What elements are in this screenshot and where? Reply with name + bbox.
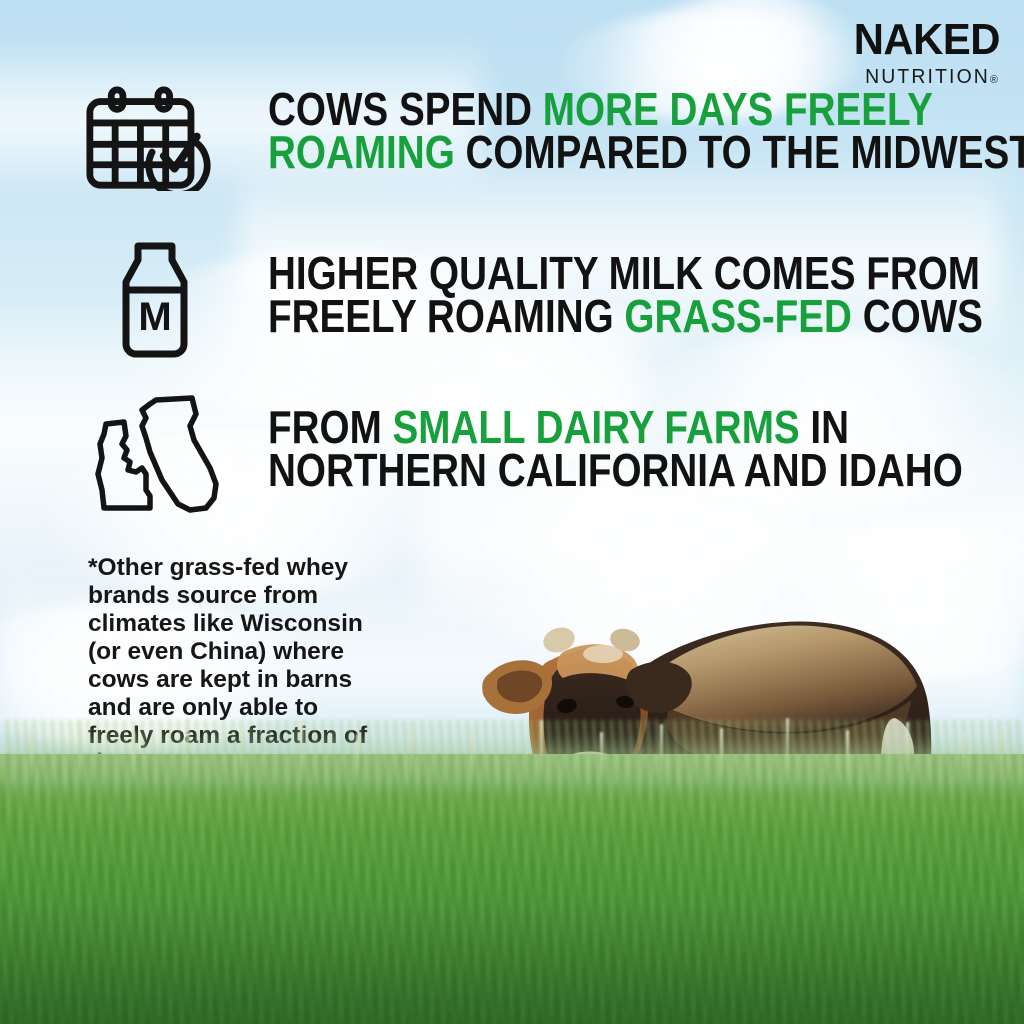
calendar-check-icon (80, 86, 230, 191)
infographic-canvas: NAKED NUTRITION® COWS SPEND MORE DAYS FR (0, 0, 1024, 1024)
headline-1-highlight-2: ROAMING (268, 126, 455, 178)
feature-row-milk-quality: M HIGHER QUALITY MILK COMES FROM FREELY … (80, 238, 1024, 360)
registered-mark-icon: ® (990, 74, 1000, 86)
feature-headline-3-line-2: NORTHERN CALIFORNIA AND IDAHO (268, 449, 963, 492)
feature-headline-2: HIGHER QUALITY MILK COMES FROM FREELY RO… (268, 252, 983, 338)
milk-bottle-letter: M (138, 295, 171, 339)
feature-headline-3-line-1: FROM SMALL DAIRY FARMS IN (268, 406, 963, 449)
headline-1-plain-2: COMPARED TO THE MIDWEST* (455, 126, 1024, 178)
headline-2-highlight: GRASS-FED (624, 290, 852, 342)
milk-bottle-icon: M (80, 238, 230, 360)
feature-row-roaming-days: COWS SPEND MORE DAYS FREELY ROAMING COMP… (80, 86, 1024, 191)
headline-2-plain-b: COWS (852, 290, 983, 342)
feature-headline-1-line-1: COWS SPEND MORE DAYS FREELY (268, 88, 1024, 131)
grass-foreground (0, 754, 1024, 1024)
brand-logo: NAKED NUTRITION® (846, 18, 1000, 87)
feature-headline-2-line-1: HIGHER QUALITY MILK COMES FROM (268, 252, 983, 295)
idaho-california-map-icon (80, 392, 230, 514)
feature-headline-3: FROM SMALL DAIRY FARMS IN NORTHERN CALIF… (268, 406, 963, 492)
feature-row-farm-locations: FROM SMALL DAIRY FARMS IN NORTHERN CALIF… (80, 392, 1024, 514)
headline-2-plain-a: FREELY ROAMING (268, 290, 624, 342)
feature-headline-1-line-2: ROAMING COMPARED TO THE MIDWEST* (268, 131, 1024, 174)
feature-headline-2-line-2: FREELY ROAMING GRASS-FED COWS (268, 295, 983, 338)
logo-wordmark-naked: NAKED (854, 18, 1000, 62)
feature-headline-1: COWS SPEND MORE DAYS FREELY ROAMING COMP… (268, 88, 1024, 174)
